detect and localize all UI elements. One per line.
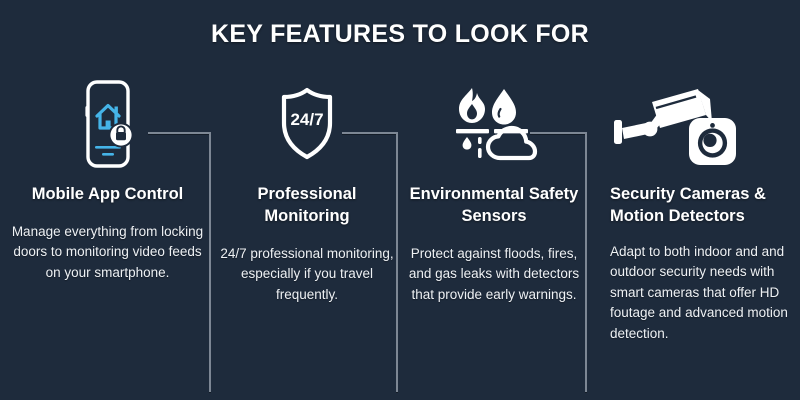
feature-body: Protect against floods, fires, and gas l…	[408, 244, 580, 306]
shield-badge-text: 24/7	[290, 110, 323, 129]
feature-column-environmental-safety-sensors: Environmental Safety Sensors Protect aga…	[408, 78, 580, 305]
feature-body: Manage everything from locking doors to …	[10, 222, 205, 284]
connector-line-1-vertical	[209, 132, 211, 392]
feature-heading: Professional Monitoring	[218, 184, 396, 228]
connector-line-2-vertical	[396, 132, 398, 392]
shield-24-7-icon: 24/7	[218, 78, 396, 170]
page-title: KEY FEATURES TO LOOK FOR	[0, 20, 800, 49]
feature-body: Adapt to both indoor and and outdoor sec…	[600, 242, 790, 345]
flame-droplet-cloud-icon	[408, 78, 580, 170]
feature-heading: Security Cameras & Motion Detectors	[600, 184, 790, 228]
connector-line-3-vertical	[585, 132, 587, 392]
feature-heading: Environmental Safety Sensors	[408, 184, 580, 228]
feature-column-mobile-app-control: Mobile App Control Manage everything fro…	[10, 78, 205, 283]
cctv-camera-motion-detector-icon	[600, 78, 790, 170]
feature-column-professional-monitoring: 24/7 Professional Monitoring 24/7 profes…	[218, 78, 396, 305]
smartphone-house-lock-icon	[10, 78, 205, 170]
feature-body: 24/7 professional monitoring, especially…	[218, 244, 396, 306]
feature-column-security-cameras-motion-detectors: Security Cameras & Motion Detectors Adap…	[600, 78, 790, 344]
infographic-poster: KEY FEATURES TO LOOK FOR	[0, 0, 800, 400]
feature-heading: Mobile App Control	[10, 184, 205, 206]
